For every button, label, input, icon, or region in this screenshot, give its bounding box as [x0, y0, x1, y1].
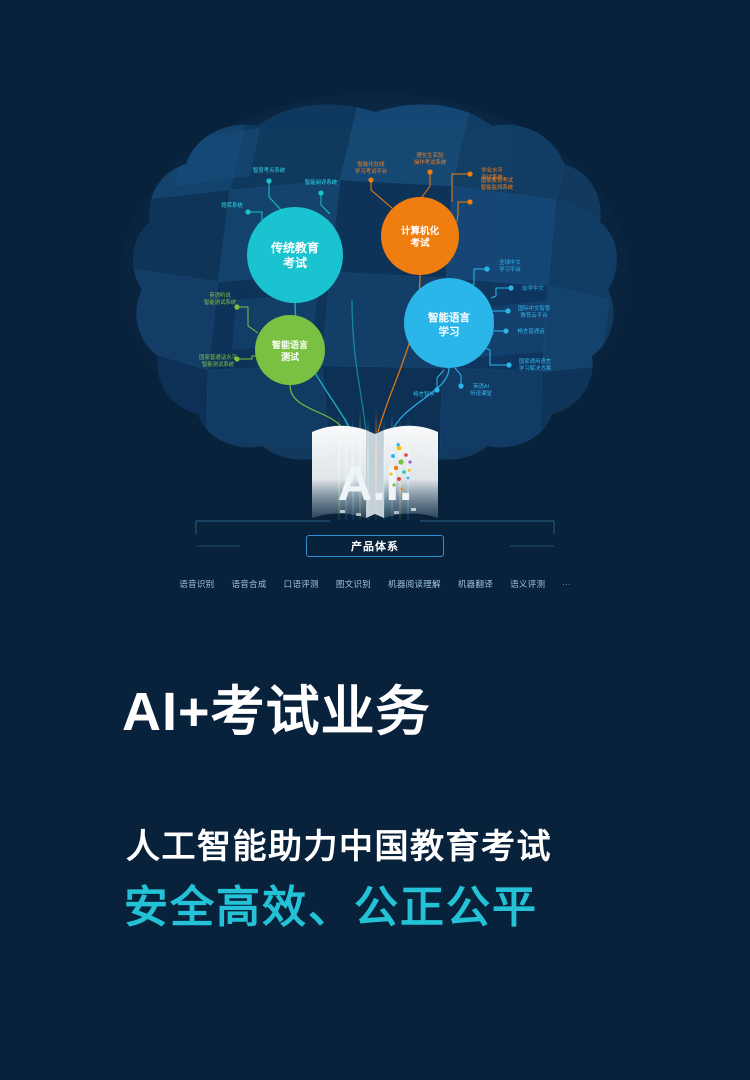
- ai-book-text: A.I.: [338, 458, 413, 511]
- node-label-line1: 智能语言: [427, 311, 470, 324]
- svg-text:全球中文: 全球中文: [499, 258, 521, 266]
- svg-text:畅言普通话: 畅言普通话: [518, 327, 546, 335]
- svg-text:英语AI: 英语AI: [473, 382, 489, 390]
- leaf-label-smart-marking-system: 智能阅评系统: [305, 178, 338, 186]
- leaf-label-global-chinese-learning-platform: 全球中文 学习平台: [499, 258, 521, 273]
- svg-text:英语听说: 英语听说: [209, 291, 231, 299]
- svg-text:幼学中文: 幼学中文: [522, 284, 544, 292]
- svg-text:学习解决方案: 学习解决方案: [519, 364, 552, 372]
- svg-text:国家通用语言: 国家通用语言: [519, 357, 552, 365]
- product-system-label: 产品体系: [351, 538, 399, 554]
- node-label-line1: 计算机化: [401, 225, 440, 237]
- sub-title: 人工智能助力中国教育考试: [126, 828, 750, 867]
- leaf-label-exam-hall-system: 智慧考点系统: [253, 166, 286, 174]
- slogan: 安全高效、公正公平: [124, 883, 750, 934]
- leaf-label-changyan-smart-learning: 畅言智学: [413, 390, 435, 398]
- node-label-line1: 智能语言: [272, 339, 308, 350]
- svg-text:教育云平台: 教育云平台: [521, 311, 548, 319]
- svg-text:智能化在线: 智能化在线: [358, 160, 386, 168]
- svg-text:国家普通话水平: 国家普通话水平: [199, 353, 237, 361]
- capability-tag-row: 语音识别 语音合成 口语评测 图文识别 机器阅读理解 机器翻译 语义评测 ···: [0, 578, 750, 590]
- svg-text:智慧考点系统: 智慧考点系统: [253, 166, 286, 174]
- svg-text:智能测试系统: 智能测试系统: [202, 360, 235, 368]
- hero-infographic: 传统教育 考试 计算机化 考试 智能语言 学习 智能语言 测试 智慧考点系统 智…: [0, 0, 750, 640]
- tag-item[interactable]: 语音识别: [179, 578, 214, 590]
- node-computerized-exam[interactable]: 计算机化 考试: [381, 197, 459, 275]
- svg-text:操作考试系统: 操作考试系统: [414, 158, 447, 166]
- node-intelligent-language-test[interactable]: 智能语言 测试: [255, 315, 325, 385]
- leaf-label-intl-chinese-smart-edu-cloud: 国际中文智慧 教育云平台: [518, 304, 551, 319]
- tag-item[interactable]: 口语评测: [284, 578, 319, 590]
- svg-text:学习考试平台: 学习考试平台: [355, 167, 387, 175]
- svg-text:学习平台: 学习平台: [499, 265, 521, 273]
- leaf-label-online-learning-exam-platform: 智能化在线 学习考试平台: [355, 160, 387, 175]
- tag-item[interactable]: 语音合成: [231, 578, 266, 590]
- node-label-line2: 考试: [410, 237, 430, 249]
- svg-text:智能监测系统: 智能监测系统: [481, 183, 514, 191]
- product-system-pill[interactable]: 产品体系: [306, 535, 444, 557]
- node-intelligent-language-learning[interactable]: 智能语言 学习: [404, 278, 494, 368]
- tag-item[interactable]: 机器翻译: [458, 578, 493, 590]
- svg-text:听说课堂: 听说课堂: [470, 389, 492, 397]
- leaf-label-kids-learn-chinese: 幼学中文: [522, 284, 544, 292]
- tag-item-ellipsis: ···: [562, 579, 571, 589]
- node-label-line2: 考试: [283, 255, 307, 270]
- node-label-line1: 传统教育: [270, 240, 319, 255]
- svg-text:国际中文智慧: 国际中文智慧: [518, 304, 551, 312]
- ai-book-logo: A.I.: [312, 426, 438, 518]
- leaf-label-national-language-learning-solution: 国家通用语言 学习解决方案: [519, 357, 552, 372]
- leaf-label-lab-operation-exam-system: 理化生实验 操作考试系统: [414, 151, 447, 166]
- svg-text:题库系统: 题库系统: [221, 201, 243, 209]
- main-title: AI+考试业务: [122, 683, 750, 742]
- leaf-label-changyan-mandarin: 畅言普通话: [518, 327, 546, 335]
- node-traditional-exam[interactable]: 传统教育 考试: [247, 207, 343, 303]
- copy-block: AI+考试业务 人工智能助力中国教育考试 安全高效、公正公平: [0, 640, 750, 934]
- node-label-line2: 测试: [281, 351, 299, 362]
- svg-text:畅言智学: 畅言智学: [413, 390, 435, 398]
- svg-text:学业水平: 学业水平: [481, 166, 503, 174]
- tag-item[interactable]: 图文识别: [336, 578, 371, 590]
- svg-text:智能测试系统: 智能测试系统: [204, 298, 237, 306]
- node-label-line2: 学习: [439, 325, 460, 338]
- leaf-label-mandarin-proficiency-test: 国家普通话水平 智能测试系统: [199, 353, 237, 368]
- leaf-label-question-bank-system: 题库系统: [221, 201, 243, 209]
- tag-item[interactable]: 语义评测: [510, 578, 545, 590]
- svg-text:理化生实验: 理化生实验: [417, 151, 445, 159]
- tag-item[interactable]: 机器阅读理解: [388, 578, 441, 590]
- leaf-label-national-exam-monitor-system: 国家教育考试 智能监测系统: [481, 176, 514, 191]
- svg-text:国家教育考试: 国家教育考试: [481, 176, 514, 184]
- svg-text:智能阅评系统: 智能阅评系统: [305, 178, 338, 186]
